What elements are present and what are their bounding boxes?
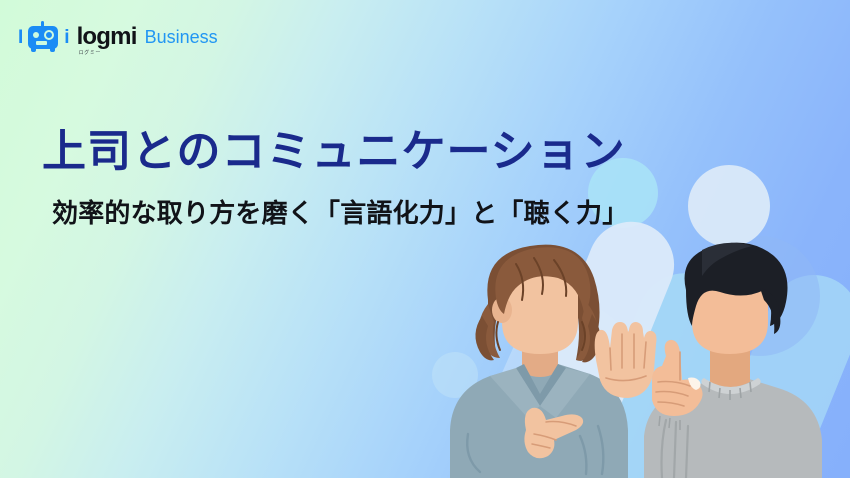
logo-wordmark-block: logmi ログミー (77, 25, 137, 49)
logo-suffix: Business (145, 28, 218, 46)
logo-bracket-right-icon: i (64, 28, 69, 47)
robot-foot-right-icon (50, 48, 55, 52)
logo-wordmark-sub: ログミー (79, 49, 101, 56)
robot-eye-right-icon (44, 30, 54, 40)
page-subtitle: 効率的な取り方を磨く「言語化力」と「聴く力」 (52, 198, 628, 229)
logo-wordmark: logmi (77, 25, 137, 49)
page-title: 上司とのコミュニケーション (42, 126, 626, 177)
woman-figure (450, 245, 657, 478)
logmi-business-logo[interactable]: I i logmi ログミー Business (18, 22, 218, 52)
slide-canvas: I i logmi ログミー Business 上司とのコミュニケーション 効率… (0, 0, 850, 478)
robot-antenna-icon (41, 21, 44, 27)
two-people-conversation-illustration (430, 230, 850, 478)
woman-open-palm (595, 322, 657, 398)
man-pointing-hand (652, 340, 703, 416)
robot-body-shape (28, 26, 58, 49)
logo-bracket-left-icon: I (18, 28, 23, 47)
logmi-robot-icon (28, 26, 58, 49)
robot-eye-left-icon (33, 32, 39, 38)
man-figure (644, 243, 822, 478)
robot-foot-left-icon (31, 48, 36, 52)
robot-mouth-icon (36, 41, 47, 45)
